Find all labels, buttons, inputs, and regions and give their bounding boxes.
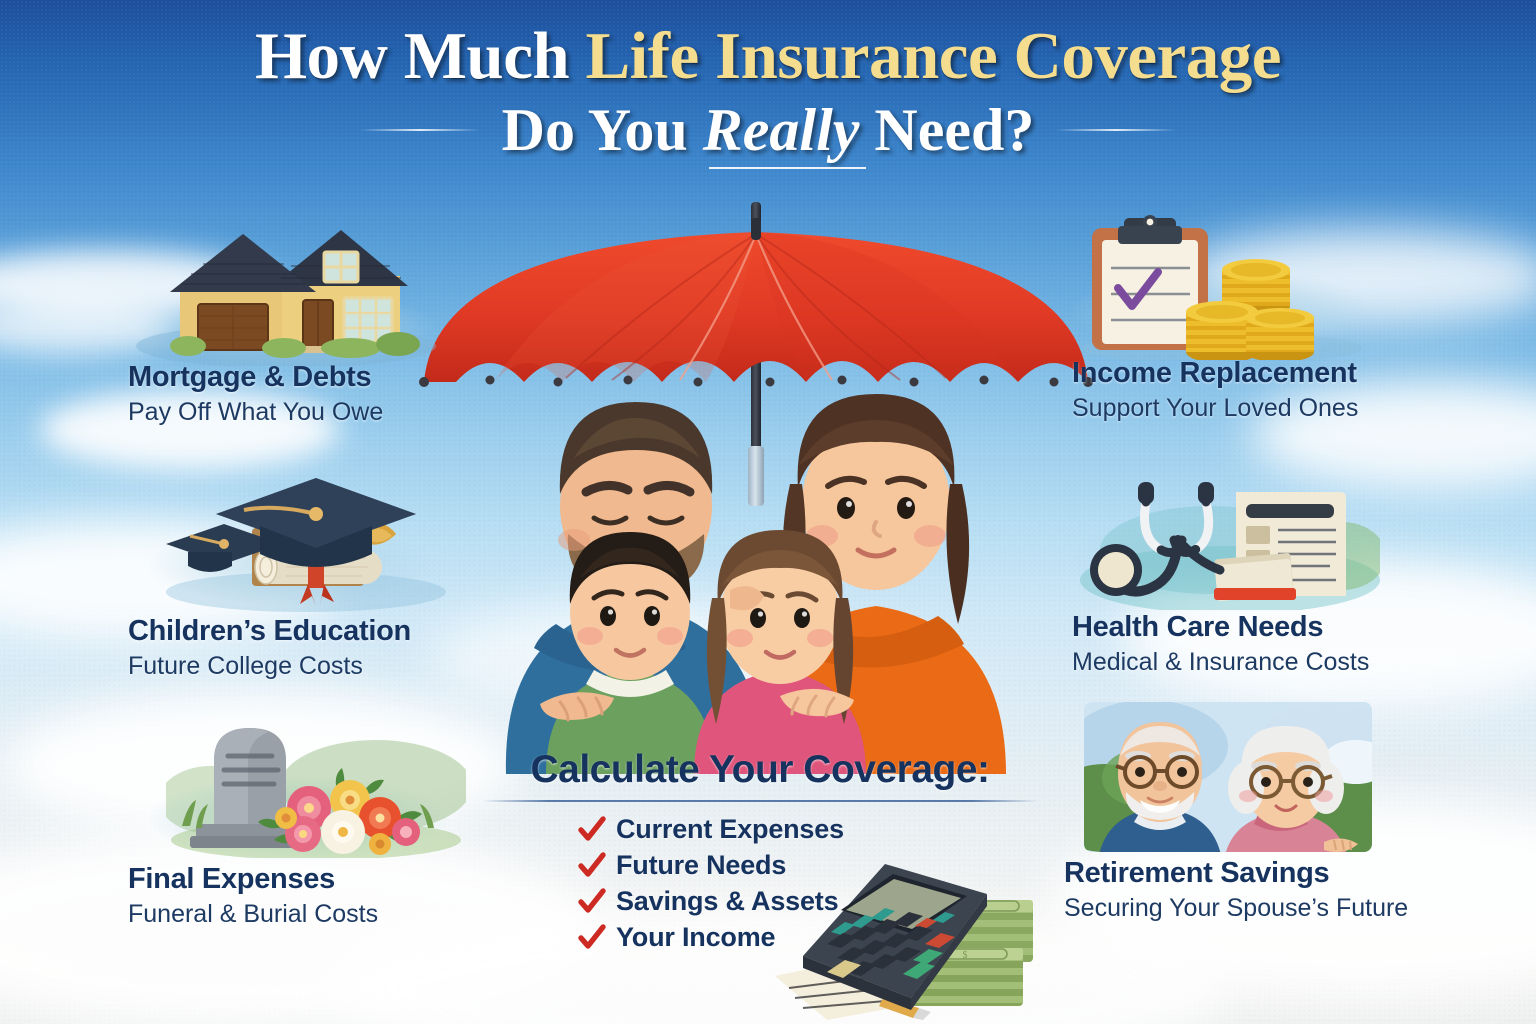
title-line-2-row: Do You Really Need?: [0, 96, 1536, 165]
svg-text:$: $: [963, 950, 968, 961]
flower: [321, 810, 365, 854]
clipboard-coins-art: [1072, 208, 1502, 358]
check-icon: [578, 816, 606, 844]
title-line1-plain: How Much: [255, 19, 586, 93]
title-line2-italic: Really: [703, 97, 860, 163]
item-title: Health Care Needs: [1072, 612, 1502, 644]
checklist-label: Current Expenses: [616, 814, 844, 845]
elderly-couple-art: [1064, 704, 1504, 864]
item-subtitle: Future College Costs: [128, 652, 548, 681]
graduation-cap-icon: [156, 466, 456, 616]
item-health-care-needs[interactable]: Health Care Needs Medical & Insurance Co…: [1072, 462, 1502, 677]
umbrella-grip: [748, 446, 764, 506]
item-childrens-education[interactable]: Children’s Education Future College Cost…: [128, 466, 548, 681]
coin-stack: [1246, 308, 1314, 360]
item-title: Income Replacement: [1072, 358, 1502, 390]
flower: [275, 807, 297, 829]
title-line-1: How Much Life Insurance Coverage: [0, 22, 1536, 92]
item-subtitle: Securing Your Spouse’s Future: [1064, 894, 1504, 923]
infographic-poster: How Much Life Insurance Coverage Do You …: [0, 0, 1536, 1024]
check-icon: [578, 924, 606, 952]
title-line2-tail: Need?: [859, 97, 1034, 163]
elderly-couple-icon: [1078, 700, 1378, 860]
checklist-item[interactable]: Current Expenses: [578, 814, 1040, 845]
title-rule-left: [360, 129, 480, 131]
check-icon: [578, 852, 606, 880]
title-rule-right: [1056, 129, 1176, 131]
headstone-flowers-icon: [166, 708, 466, 858]
stethoscope-documents-icon: [1080, 460, 1380, 610]
family-of-four-icon: [498, 354, 1014, 774]
graduation-art: [128, 466, 548, 616]
stethoscope-art: [1072, 462, 1502, 612]
calculate-coverage-title: Calculate Your Coverage:: [480, 748, 1040, 792]
item-subtitle: Support Your Loved Ones: [1072, 394, 1502, 423]
item-income-replacement[interactable]: Income Replacement Support Your Loved On…: [1072, 208, 1502, 423]
title-line-2: Do You Really Need?: [502, 96, 1035, 165]
title-line1-accent: Life Insurance Coverage: [585, 19, 1281, 93]
clipboard-coins-icon: [1082, 210, 1372, 360]
item-mortgage-debts[interactable]: Mortgage & Debts Pay Off What You Owe: [128, 212, 548, 427]
checklist-label: Future Needs: [616, 850, 786, 881]
check-icon: [578, 888, 606, 916]
house-icon: [136, 216, 446, 366]
calculator-money-icon: $ $: [775, 848, 1040, 1023]
checklist-label: Your Income: [616, 922, 775, 953]
calculate-coverage-panel: Calculate Your Coverage: Current Expense…: [480, 748, 1040, 958]
item-retirement-savings[interactable]: Retirement Savings Securing Your Spouse’…: [1064, 704, 1504, 923]
flower: [392, 818, 420, 846]
house-art: [128, 212, 548, 362]
item-title: Children’s Education: [128, 616, 548, 648]
item-subtitle: Pay Off What You Owe: [128, 398, 548, 427]
panel-divider: [482, 800, 1038, 802]
item-title: Mortgage & Debts: [128, 362, 548, 394]
poster-title: How Much Life Insurance Coverage Do You …: [0, 22, 1536, 165]
title-line2-plain: Do You: [502, 97, 703, 163]
item-subtitle: Medical & Insurance Costs: [1072, 648, 1502, 677]
flower: [369, 833, 391, 855]
